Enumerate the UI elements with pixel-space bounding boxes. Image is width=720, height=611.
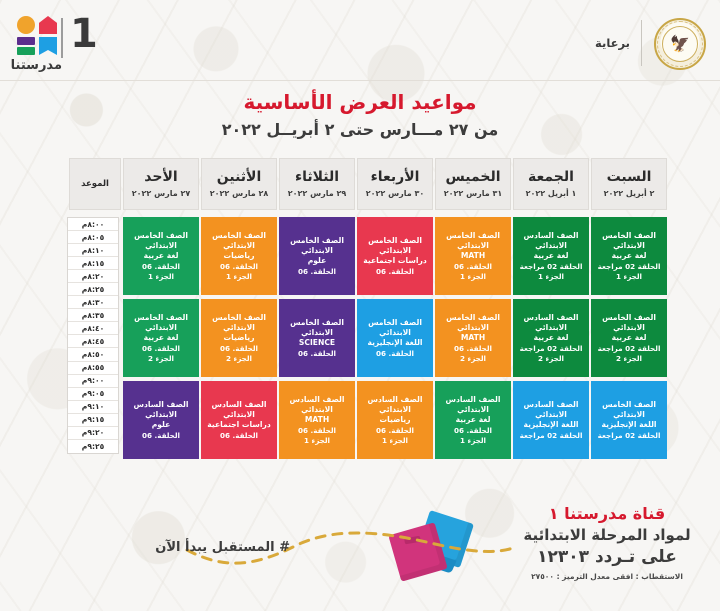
schedule-cell-grade: الصف الخامس الابتدائي [359, 236, 431, 255]
schedule-cell-subject: دراسات اجتماعية [363, 256, 426, 265]
channel-number: 1 [70, 14, 98, 54]
schedule-cell-subject: علوم [152, 420, 171, 429]
day-header-date: ٢٧ مارس ٢٠٢٢ [132, 189, 190, 198]
schedule-cell-subject: MATH [461, 251, 485, 260]
time-slot: ٩:٢٠م [68, 427, 118, 440]
schedule-cell-grade: الصف السادس الابتدائي [281, 395, 353, 414]
day-header-name: الأثنين [217, 170, 262, 185]
day-header-2: الجمعة١ أبريل ٢٠٢٢ [513, 158, 589, 210]
schedule-cell-episode: الحلقة 02 مراجعة [520, 431, 583, 440]
schedule-cell[interactable]: الصف السادس الابتدائيلغة عربيةالحلقة 02 … [513, 299, 589, 377]
schedule-cell-grade: الصف السادس الابتدائي [203, 400, 275, 419]
schedule-cell[interactable]: الصف السادس الابتدائيلغة عربيةالحلقة 02 … [513, 217, 589, 295]
schedule-cell[interactable]: الصف الخامس الابتدائياللغة الإنجليزيةالح… [357, 299, 433, 377]
schedule-cell[interactable]: الصف الخامس الابتدائيعلومالحلقة. 06 [279, 217, 355, 295]
schedule-cell-subject: SCIENCE [299, 338, 335, 347]
schedule-cell-subject: لغة عربية [534, 333, 569, 342]
schedule-cell-episode: الحلقة 02 مراجعة [598, 262, 661, 271]
hashtag-slogan: # المستقبل يبدأ الآن [155, 540, 290, 555]
schedule-cell[interactable]: الصف الخامس الابتدائيلغة عربيةالحلقة 02 … [591, 299, 667, 377]
day-columns-area: الصف الخامس الابتدائيلغة عربيةالحلقة 02 … [123, 217, 667, 459]
schedule-cell-part: الجزء 1 [538, 272, 564, 281]
schedule-cell-episode: الحلقة 02 مراجعة [520, 262, 583, 271]
schedule-cell-episode: الحلقة 02 مراجعة [598, 344, 661, 353]
day-column-4: الصف الخامس الابتدائيدراسات اجتماعيةالحل… [357, 217, 433, 459]
schedule-cell-episode: الحلقة. 06 [298, 349, 336, 358]
day-column-7: الصف الخامس الابتدائيلغة عربيةالحلقة. 06… [123, 217, 199, 459]
day-header-5: الثلاثاء٢٩ مارس ٢٠٢٢ [279, 158, 355, 210]
day-column-5: الصف الخامس الابتدائيعلومالحلقة. 06الصف … [279, 217, 355, 459]
time-slot: ٨:٣٠م [68, 296, 118, 309]
day-header-name: الخميس [445, 170, 500, 185]
schedule-cell[interactable]: الصف الخامس الابتدائيSCIENCEالحلقة. 06 [279, 299, 355, 377]
schedule-cell-subject: لغة عربية [612, 333, 647, 342]
time-slot: ٩:١٠م [68, 401, 118, 414]
day-column-6: الصف الخامس الابتدائيرياضياتالحلقة. 06ال… [201, 217, 277, 459]
schedule-cell-part: الجزء 1 [226, 272, 252, 281]
schedule-cell-grade: الصف الخامس الابتدائي [281, 236, 353, 255]
schedule-cell-subject: لغة عربية [144, 251, 179, 260]
schedule-cell-subject: لغة عربية [456, 415, 491, 424]
channel-name: مدرستنا [16, 58, 62, 73]
schedule-cell-grade: الصف السادس الابتدائي [125, 400, 197, 419]
egypt-ministry-of-education-seal-icon: 🦅 [654, 18, 706, 70]
schedule-cell[interactable]: الصف الخامس الابتدائيلغة عربيةالحلقة. 06… [123, 299, 199, 377]
schedule-cell-part: الجزء 2 [616, 354, 642, 363]
schedule-cell[interactable]: الصف الخامس الابتدائيدراسات اجتماعيةالحل… [357, 217, 433, 295]
logo-house-shape [39, 16, 57, 34]
day-header-date: ٢ أبريل ٢٠٢٢ [604, 189, 655, 198]
time-slot: ٨:٠٠م [68, 218, 118, 231]
table-header-row: السبت٢ أبريل ٢٠٢٢الجمعة١ أبريل ٢٠٢٢الخمي… [55, 158, 667, 210]
schedule-cell-subject: اللغة الإنجليزية [601, 420, 656, 429]
schedule-cell-part: الجزء 1 [616, 272, 642, 281]
time-slot: ٨:٥٠م [68, 348, 118, 361]
schedule-cell-episode: الحلقة. 06 [142, 431, 180, 440]
schedule-cell-part: الجزء 2 [148, 354, 174, 363]
day-column-1: الصف الخامس الابتدائيلغة عربيةالحلقة 02 … [591, 217, 667, 459]
time-slot: ٨:١٥م [68, 257, 118, 270]
schedule-cell-grade: الصف السادس الابتدائي [437, 395, 509, 414]
time-slot: ٨:٣٥م [68, 309, 118, 322]
time-slot: ٩:٠٠م [68, 375, 118, 388]
schedule-cell-subject: لغة عربية [612, 251, 647, 260]
schedule-cell-part: الجزء 1 [460, 436, 486, 445]
logo-circle-shape [17, 16, 35, 34]
schedule-cell-subject: رياضيات [224, 333, 255, 342]
schedule-cell[interactable]: الصف السادس الابتدائيلغة عربيةالحلقة. 06… [435, 381, 511, 459]
schedule-cell[interactable]: الصف الخامس الابتدائيرياضياتالحلقة. 06ال… [201, 217, 277, 295]
day-header-1: السبت٢ أبريل ٢٠٢٢ [591, 158, 667, 210]
time-column-header-label: الموعد [81, 179, 109, 189]
schedule-cell[interactable]: الصف السادس الابتدائيدراسات اجتماعيةالحل… [201, 381, 277, 459]
schedule-cell-grade: الصف الخامس الابتدائي [203, 231, 275, 250]
schedule-cell-episode: الحلقة. 06 [454, 426, 492, 435]
logo-bookmark-shape [39, 37, 57, 55]
schedule-cell[interactable]: الصف السادس الابتدائيMATHالحلقة. 06الجزء… [279, 381, 355, 459]
title-block: مواعيد العرض الأساسية من ٢٧ مـــارس حتى … [0, 90, 720, 139]
schedule-cell-episode: الحلقة. 06 [376, 349, 414, 358]
page-header: 🦅 برعاية 1 مدرستنا [0, 0, 720, 82]
day-header-date: ٢٨ مارس ٢٠٢٢ [210, 189, 268, 198]
schedule-cell[interactable]: الصف الخامس الابتدائيMATHالحلقة. 06الجزء… [435, 299, 511, 377]
table-body: الصف الخامس الابتدائيلغة عربيةالحلقة 02 … [55, 217, 667, 459]
schedule-cell-subject: رياضيات [224, 251, 255, 260]
time-slot: ٨:٠٥م [68, 231, 118, 244]
time-slot: ٨:٢٠م [68, 270, 118, 283]
schedule-cell-part: الجزء 2 [226, 354, 252, 363]
schedule-cell[interactable]: الصف الخامس الابتدائيرياضياتالحلقة. 06ال… [201, 299, 277, 377]
schedule-cell[interactable]: الصف السادس الابتدائيرياضياتالحلقة. 06ال… [357, 381, 433, 459]
schedule-cell-grade: الصف السادس الابتدائي [359, 395, 431, 414]
schedule-cell[interactable]: الصف السادس الابتدائياللغة الإنجليزيةالح… [513, 381, 589, 459]
schedule-cell-subject: لغة عربية [534, 251, 569, 260]
schedule-cell-grade: الصف الخامس الابتدائي [125, 313, 197, 332]
schedule-cell-grade: الصف الخامس الابتدائي [203, 313, 275, 332]
schedule-cell-episode: الحلقة. 06 [298, 426, 336, 435]
schedule-cell-grade: الصف السادس الابتدائي [515, 400, 587, 419]
day-header-7: الأحد٢٧ مارس ٢٠٢٢ [123, 158, 199, 210]
schedule-cell-grade: الصف الخامس الابتدائي [593, 400, 665, 419]
schedule-cell-part: الجزء 1 [382, 436, 408, 445]
time-slot: ٨:٢٥م [68, 283, 118, 296]
page-subtitle: من ٢٧ مـــارس حتى ٢ أبريــل ٢٠٢٢ [0, 120, 720, 139]
schedule-cell-grade: الصف السادس الابتدائي [515, 231, 587, 250]
day-header-name: السبت [607, 170, 652, 185]
schedule-cell-episode: الحلقة. 06 [454, 262, 492, 271]
footer-frequency-line: على تـردد ١٢٣٠٣ [502, 547, 712, 567]
schedule-cell-episode: الحلقة. 06 [142, 262, 180, 271]
schedule-cell-subject: رياضيات [380, 415, 411, 424]
schedule-cell-subject: اللغة الإنجليزية [523, 420, 578, 429]
schedule-cell-subject: لغة عربية [144, 333, 179, 342]
schedule-cell[interactable]: الصف الخامس الابتدائيلغة عربيةالحلقة 02 … [591, 217, 667, 295]
schedule-cell-grade: الصف الخامس الابتدائي [437, 231, 509, 250]
schedule-cell-episode: الحلقة. 06 [220, 344, 258, 353]
day-header-4: الأربعاء٣٠ مارس ٢٠٢٢ [357, 158, 433, 210]
logo-green-bar-shape [17, 47, 35, 55]
seal-ring [657, 21, 703, 67]
schedule-cell-grade: الصف السادس الابتدائي [515, 313, 587, 332]
footer-channel-line: قناة مدرستنا ١ [502, 504, 712, 523]
schedule-cell-episode: الحلقة. 06 [220, 431, 258, 440]
schedule-cell[interactable]: الصف الخامس الابتدائيMATHالحلقة. 06الجزء… [435, 217, 511, 295]
schedule-cell-grade: الصف الخامس الابتدائي [593, 231, 665, 250]
day-header-name: الأربعاء [371, 170, 420, 185]
day-header-name: الثلاثاء [295, 170, 339, 185]
schedule-cell[interactable]: الصف الخامس الابتدائياللغة الإنجليزيةالح… [591, 381, 667, 459]
page-title: مواعيد العرض الأساسية [0, 90, 720, 114]
channel-logo: 1 مدرستنا [16, 12, 92, 74]
time-slot: ٩:١٥م [68, 414, 118, 427]
day-header-date: ٢٩ مارس ٢٠٢٢ [288, 189, 346, 198]
schedule-cell-part: الجزء 1 [304, 436, 330, 445]
schedule-cell-episode: الحلقة. 06 [454, 344, 492, 353]
madrasatna-logo-icon [16, 16, 58, 56]
schedule-cell-subject: اللغة الإنجليزية [367, 338, 422, 347]
schedule-cell-subject: علوم [308, 256, 327, 265]
schedule-cell-subject: MATH [305, 415, 329, 424]
schedule-table: السبت٢ أبريل ٢٠٢٢الجمعة١ أبريل ٢٠٢٢الخمي… [55, 158, 667, 459]
day-column-2: الصف السادس الابتدائيلغة عربيةالحلقة 02 … [513, 217, 589, 459]
time-slot: ٩:٢٥م [68, 440, 118, 453]
schedule-cell-subject: دراسات اجتماعية [207, 420, 270, 429]
schedule-cell-grade: الصف الخامس الابتدائي [593, 313, 665, 332]
time-slot: ٨:٥٥م [68, 362, 118, 375]
day-header-name: الأحد [144, 170, 177, 185]
schedule-cell-episode: الحلقة. 06 [142, 344, 180, 353]
schedule-cell-grade: الصف الخامس الابتدائي [125, 231, 197, 250]
schedule-cell-part: الجزء 1 [148, 272, 174, 281]
schedule-cell-subject: MATH [461, 333, 485, 342]
schedule-cell-grade: الصف الخامس الابتدائي [359, 318, 431, 337]
day-header-6: الأثنين٢٨ مارس ٢٠٢٢ [201, 158, 277, 210]
day-header-date: ٣١ مارس ٢٠٢٢ [444, 189, 502, 198]
logo-purple-bar-shape [17, 37, 35, 45]
channel-separator-bar [61, 18, 63, 58]
footer-technical-line: الاستقطاب : افقى معدل الترميز : ٢٧٥٠٠ [502, 572, 712, 581]
schedule-cell-episode: الحلقة. 06 [220, 262, 258, 271]
header-vertical-divider [641, 20, 642, 66]
schedule-cell-episode: الحلقة. 06 [376, 267, 414, 276]
time-column-header: الموعد [69, 158, 121, 210]
time-slot: ٨:١٠م [68, 244, 118, 257]
day-header-name: الجمعة [528, 170, 574, 185]
schedule-cell-grade: الصف الخامس الابتدائي [437, 313, 509, 332]
day-header-3: الخميس٣١ مارس ٢٠٢٢ [435, 158, 511, 210]
schedule-cell-part: الجزء 1 [460, 272, 486, 281]
sponsor-label: برعاية [595, 36, 630, 50]
day-header-date: ١ أبريل ٢٠٢٢ [526, 189, 577, 198]
footer-audience-line: لمواد المرحلة الابتدائية [502, 526, 712, 544]
time-slot: ٨:٤٥م [68, 335, 118, 348]
time-slot: ٩:٠٥م [68, 388, 118, 401]
schedule-cell[interactable]: الصف الخامس الابتدائيلغة عربيةالحلقة. 06… [123, 217, 199, 295]
schedule-cell-part: الجزء 2 [538, 354, 564, 363]
schedule-cell-episode: الحلقة. 06 [376, 426, 414, 435]
footer-channel-info: قناة مدرستنا ١ لمواد المرحلة الابتدائية … [502, 504, 712, 581]
day-header-date: ٣٠ مارس ٢٠٢٢ [366, 189, 424, 198]
schedule-cell-grade: الصف الخامس الابتدائي [281, 318, 353, 337]
schedule-cell-episode: الحلقة. 06 [298, 267, 336, 276]
schedule-cell[interactable]: الصف السادس الابتدائيعلومالحلقة. 06 [123, 381, 199, 459]
time-column: ٨:٠٠م٨:٠٥م٨:١٠م٨:١٥م٨:٢٠م٨:٢٥م٨:٣٠م٨:٣٥م… [67, 217, 119, 454]
schedule-cell-episode: الحلقة 02 مراجعة [520, 344, 583, 353]
day-column-3: الصف الخامس الابتدائيMATHالحلقة. 06الجزء… [435, 217, 511, 459]
schedule-cell-episode: الحلقة 02 مراجعة [598, 431, 661, 440]
time-slot: ٨:٤٠م [68, 322, 118, 335]
schedule-cell-part: الجزء 2 [460, 354, 486, 363]
